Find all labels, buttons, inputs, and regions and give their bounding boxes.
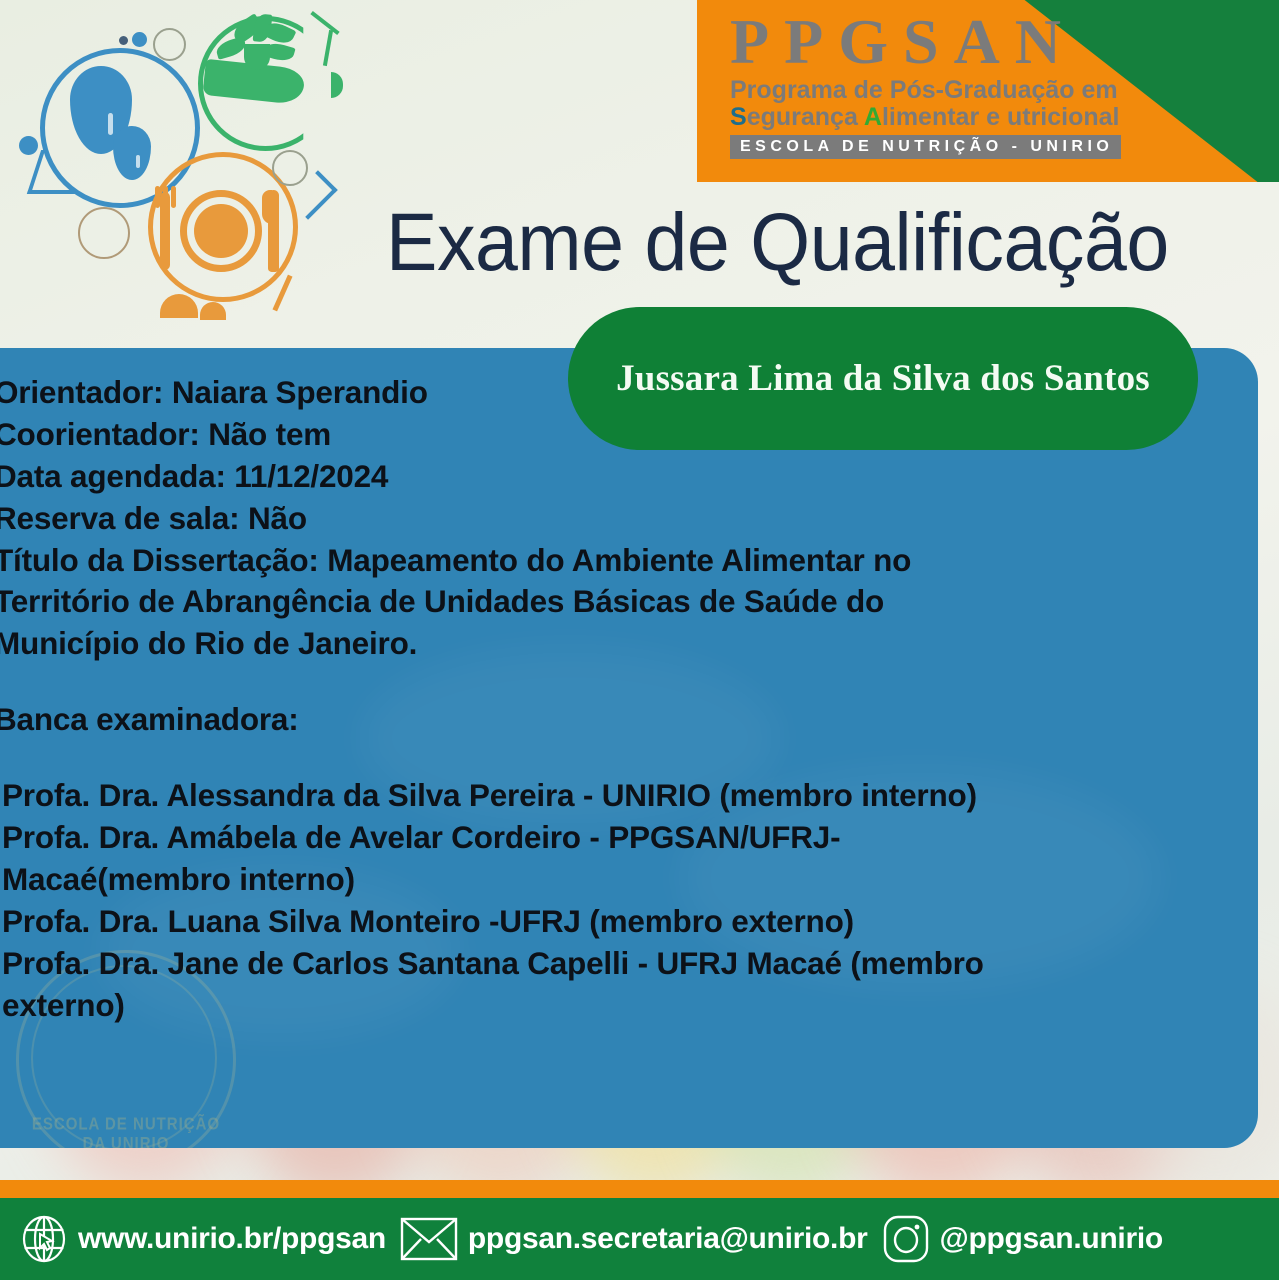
ppgsan-logo-text: PPGSAN Programa de Pós-Graduação em Segu… bbox=[730, 8, 1130, 159]
bubble-dot-icon bbox=[132, 32, 147, 47]
bubble-dot-left-icon bbox=[19, 136, 38, 155]
globe-icon bbox=[20, 1215, 68, 1263]
logo-segurança-text: egurança bbox=[747, 103, 864, 131]
instagram-text: @ppgsan.unirio bbox=[940, 1222, 1163, 1256]
logo-a-letter: A bbox=[864, 103, 882, 131]
scheduled-date-line: Data agendada: 11/12/2024 bbox=[0, 456, 1004, 498]
exam-details: Orientador: Naiara Sperandio Coorientado… bbox=[0, 372, 1004, 1026]
email-contact[interactable]: ppgsan.secretaria@unirio.br bbox=[400, 1216, 868, 1262]
outline-circle-icon bbox=[153, 28, 186, 61]
room-reservation-line: Reserva de sala: Não bbox=[0, 498, 1004, 540]
escola-banner: ESCOLA DE NUTRIÇÃO - UNIRIO bbox=[730, 135, 1121, 159]
ppgsan-subtitle-line2: Segurança Alimentar e utricional bbox=[730, 104, 1130, 131]
poster-canvas: PPGSAN Programa de Pós-Graduação em Segu… bbox=[0, 0, 1279, 1280]
instagram-icon bbox=[882, 1214, 930, 1264]
spacer bbox=[0, 665, 1004, 699]
san-icon-cluster bbox=[8, 4, 378, 334]
logo-alimentar-text: limentar e utricional bbox=[882, 103, 1120, 131]
food-shape-icon bbox=[160, 294, 198, 318]
bubble-dot-small-icon bbox=[119, 36, 128, 45]
examining-board-heading: Banca examinadora: bbox=[0, 699, 1004, 741]
student-name: Jussara Lima da Silva dos Santos bbox=[616, 357, 1150, 400]
plate-center-icon bbox=[194, 204, 248, 258]
board-member-3: Profa. Dra. Luana Silva Monteiro -UFRJ (… bbox=[0, 901, 1004, 943]
outline-circle-icon bbox=[78, 207, 130, 259]
accent-slash-icon bbox=[310, 11, 339, 35]
accent-slash-icon bbox=[323, 30, 333, 66]
info-panel: ESCOLA DE NUTRIÇÃO DA UNIRIO Orientador:… bbox=[0, 348, 1258, 1148]
ppgsan-acronym: PPGSAN bbox=[730, 8, 1130, 75]
plant-stem-icon bbox=[244, 44, 270, 70]
knife-icon bbox=[268, 190, 279, 272]
leaf-sliver-icon bbox=[331, 72, 343, 98]
page-title: Exame de Qualificação bbox=[386, 196, 1204, 290]
instagram-contact[interactable]: @ppgsan.unirio bbox=[882, 1214, 1163, 1264]
fork-tine-icon bbox=[155, 186, 160, 208]
board-member-4: Profa. Dra. Jane de Carlos Santana Capel… bbox=[0, 943, 1004, 1027]
student-name-badge: Jussara Lima da Silva dos Santos bbox=[568, 307, 1198, 450]
board-member-2: Profa. Dra. Amábela de Avelar Cordeiro -… bbox=[0, 817, 1004, 901]
food-shape-small-icon bbox=[200, 302, 226, 320]
footer-bar: www.unirio.br/ppgsan ppgsan.secretaria@u… bbox=[0, 1198, 1279, 1280]
ppgsan-subtitle-line1: Programa de Pós-Graduação em bbox=[730, 77, 1130, 104]
seal-text: ESCOLA DE NUTRIÇÃO DA UNIRIO bbox=[19, 1114, 233, 1148]
outline-circle-icon bbox=[272, 150, 308, 186]
logo-s-letter: S bbox=[730, 103, 747, 131]
envelope-icon bbox=[400, 1216, 458, 1262]
website-text: www.unirio.br/ppgsan bbox=[78, 1222, 386, 1256]
fork-tine-icon bbox=[163, 186, 168, 208]
fork-tine-icon bbox=[171, 186, 176, 208]
footer-orange-stripe bbox=[0, 1180, 1279, 1198]
dissertation-title-line: Título da Dissertação: Mapeamento do Amb… bbox=[0, 540, 1004, 666]
board-member-1: Profa. Dra. Alessandra da Silva Pereira … bbox=[0, 775, 1004, 817]
email-text: ppgsan.secretaria@unirio.br bbox=[468, 1222, 868, 1256]
website-contact[interactable]: www.unirio.br/ppgsan bbox=[20, 1215, 386, 1263]
spacer bbox=[0, 741, 1004, 775]
